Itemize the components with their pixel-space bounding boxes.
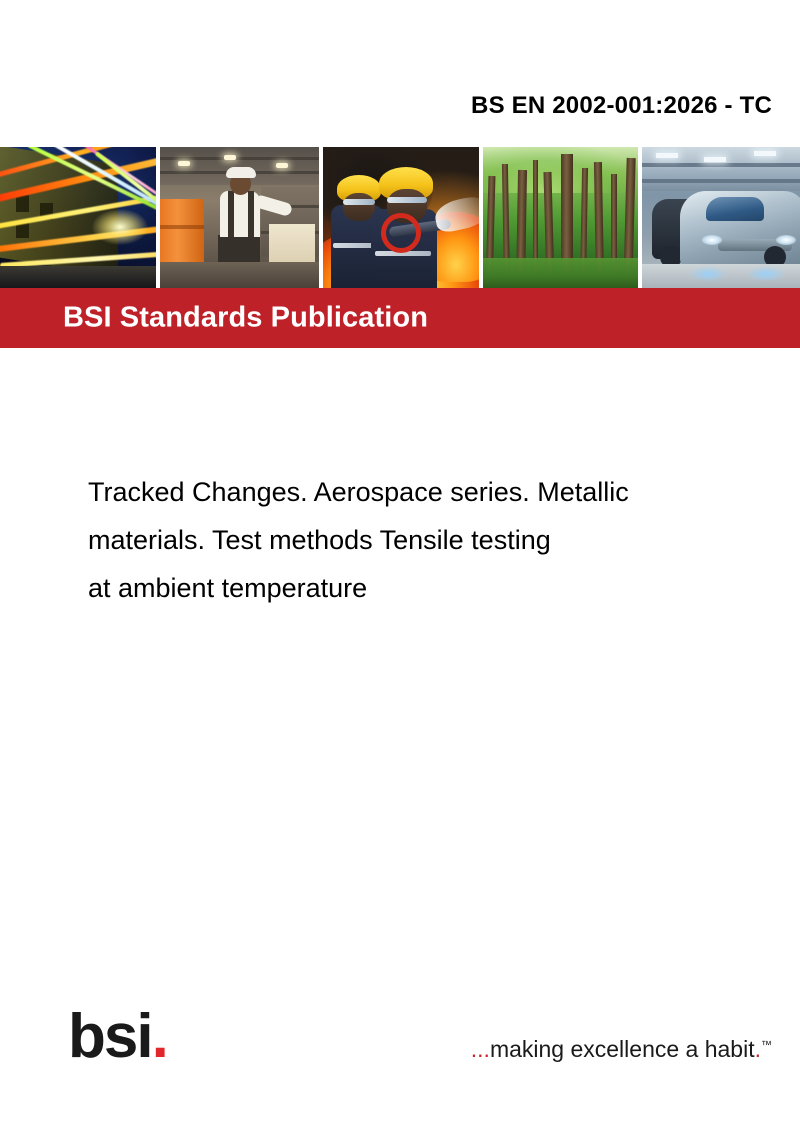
car-windshield: [706, 197, 764, 221]
title-line-2: materials. Test methods Tensile testing: [88, 516, 778, 564]
trademark-icon: ™: [761, 1039, 772, 1051]
worker-strap: [228, 191, 234, 237]
ceiling-lamp: [224, 155, 236, 160]
car-headlamp: [776, 235, 796, 245]
cover-photo-banner: [0, 147, 800, 288]
banner-image-forest: [483, 147, 637, 288]
bsi-tagline: ...making excellence a habit.™: [471, 1036, 772, 1063]
factory-light: [656, 153, 678, 158]
firefighter-face: [343, 193, 375, 221]
hose-valve-wheel: [381, 213, 421, 253]
ceiling-lamp: [178, 161, 190, 166]
banner-image-firefighters: [323, 147, 479, 288]
worker-torso: [220, 191, 260, 237]
helmet-visor: [387, 197, 427, 203]
title-line-3: at ambient temperature: [88, 564, 778, 612]
worker-cap: [226, 167, 256, 178]
roof-rail: [642, 179, 800, 183]
warehouse-floor: [160, 262, 318, 288]
building-window: [16, 195, 29, 212]
car-headlamp: [702, 235, 722, 245]
helmet-visor: [343, 199, 375, 205]
banner-image-car-assembly: [642, 147, 800, 288]
banner-image-warehouse-worker: [160, 147, 318, 288]
factory-light: [704, 157, 726, 162]
tagline-text: making excellence a habit: [490, 1036, 755, 1062]
worker-strap: [248, 191, 254, 237]
ceiling-lamp: [276, 163, 288, 168]
publication-bar: BSI Standards Publication: [0, 288, 800, 348]
bsi-logo: bsi.: [68, 1006, 167, 1068]
bsi-logo-dot: .: [152, 1002, 167, 1071]
floor-light-reflection: [746, 266, 786, 282]
ceiling-beam: [160, 157, 318, 160]
factory-light: [754, 151, 776, 156]
bsi-logo-wordmark: bsi: [68, 1002, 152, 1071]
document-reference: BS EN 2002-001:2026 - TC: [471, 92, 772, 120]
tagline-ellipsis: ...: [471, 1036, 490, 1062]
roof-rail: [642, 163, 800, 167]
road-surface: [0, 266, 156, 288]
floor-light-reflection: [688, 266, 728, 282]
forest-floor: [483, 258, 637, 288]
banner-image-light-trails: [0, 147, 156, 288]
title-line-1: Tracked Changes. Aerospace series. Metal…: [88, 468, 778, 516]
publication-bar-label: BSI Standards Publication: [63, 302, 428, 335]
headlight-glow: [92, 209, 148, 245]
page-title: Tracked Changes. Aerospace series. Metal…: [88, 468, 778, 612]
